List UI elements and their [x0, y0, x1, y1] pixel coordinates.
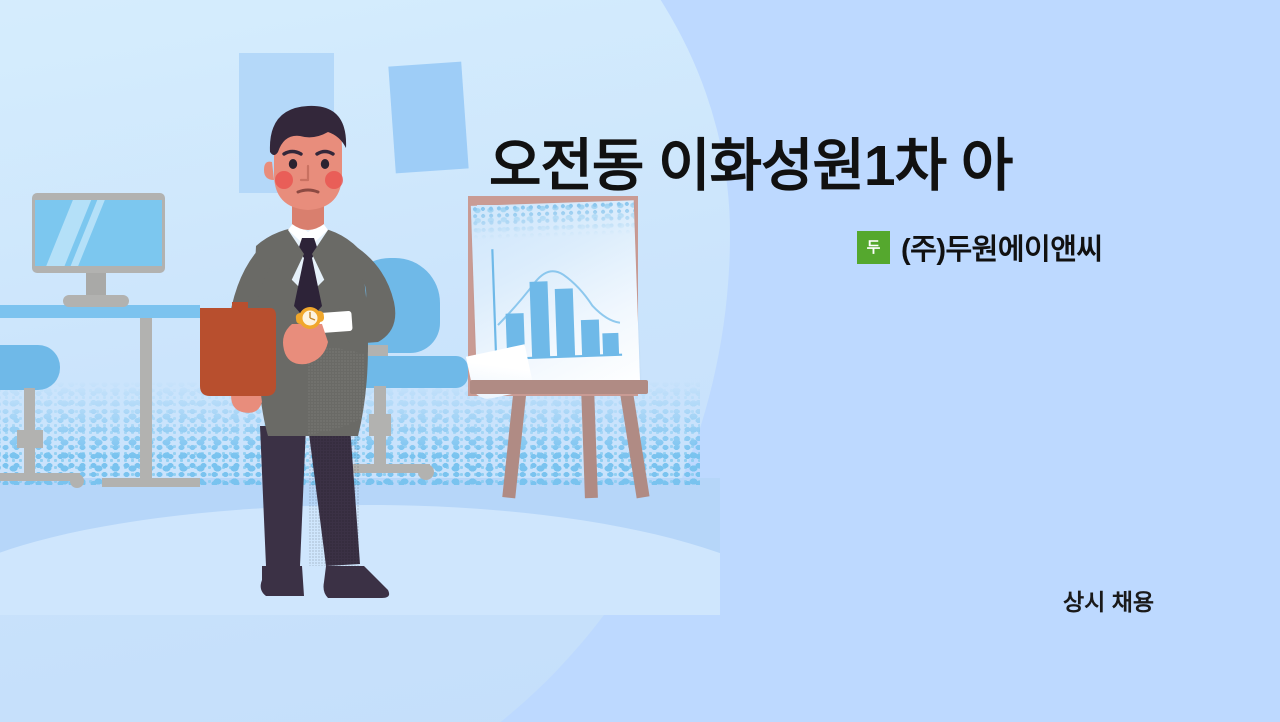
company-row[interactable]: 두 (주)두원에이앤씨 [857, 226, 1103, 268]
office-chair-left-backrest [0, 345, 60, 390]
easel-tray [470, 380, 648, 394]
illustration-area [0, 0, 720, 615]
paper-dust-texture [471, 200, 635, 240]
office-chair-left-legs [0, 473, 80, 481]
monitor-stand-base [63, 295, 129, 307]
briefcase-icon [200, 302, 276, 396]
job-posting-banner: 오전동 이화성원1차 아 두 (주)두원에이앤씨 상시 채용 [0, 0, 1280, 722]
company-name[interactable]: (주)두원에이앤씨 [901, 226, 1103, 268]
office-chair-left-wheel [70, 474, 84, 488]
businessman-illustration [188, 96, 438, 615]
page-title: 오전동 이화성원1차 아 [489, 136, 1189, 198]
businessman-shoes [261, 566, 389, 598]
businessman-head [264, 106, 346, 210]
company-logo-badge: 두 [857, 231, 890, 264]
desk-foot [102, 478, 200, 487]
businessman-legs [260, 426, 360, 566]
office-chair-left-post [24, 388, 35, 433]
monitor-screen [35, 200, 162, 266]
desk-leg [140, 318, 152, 483]
monitor-icon [32, 193, 165, 273]
status-badge: 상시 채용 [1063, 583, 1154, 617]
office-chair-left-stem [24, 446, 35, 476]
